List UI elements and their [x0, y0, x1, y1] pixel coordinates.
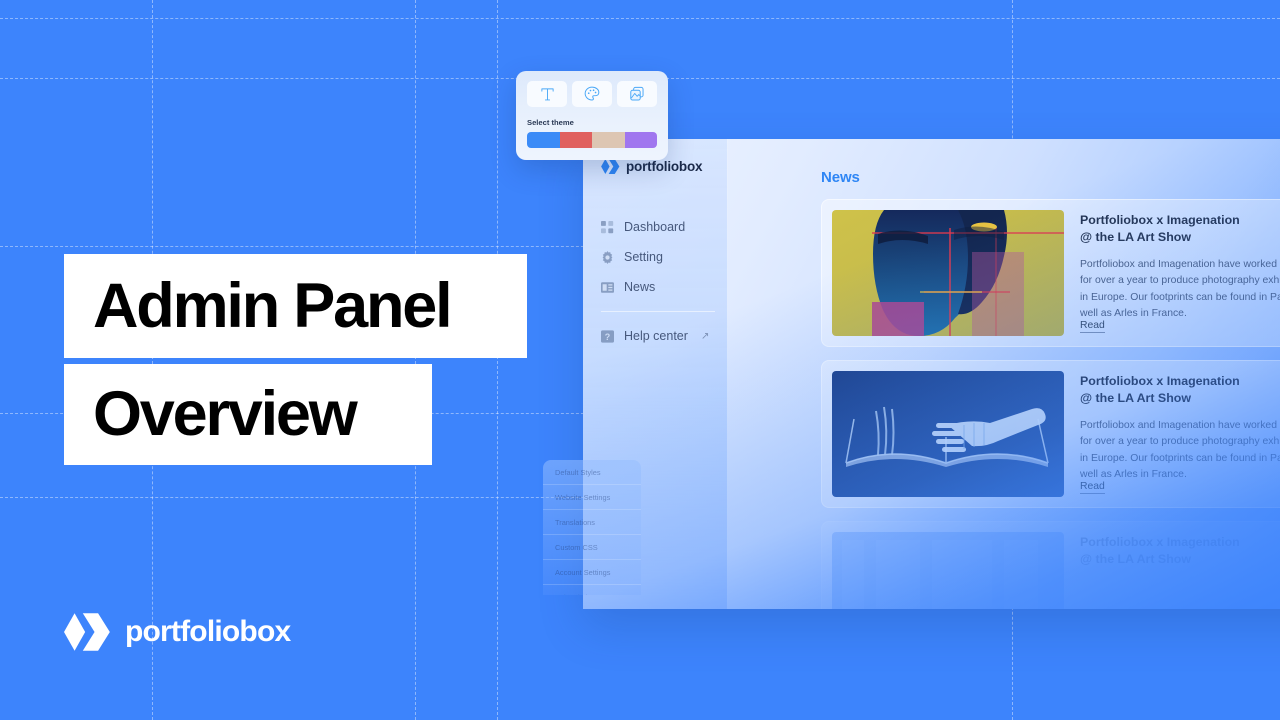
theme-popover: Select theme	[516, 71, 668, 160]
news-heading-line: Portfoliobox x Imagenation	[1080, 373, 1280, 390]
portfoliobox-logo-icon	[64, 612, 111, 652]
text-tool-icon	[540, 87, 555, 102]
read-link[interactable]: Read	[1080, 320, 1105, 333]
settings-menu-item[interactable]: Subscription	[543, 585, 641, 595]
news-thumbnail	[832, 210, 1064, 336]
theme-swatch-beige[interactable]	[592, 132, 625, 148]
dashboard-grid-icon	[601, 221, 614, 234]
grid-line-vertical	[497, 0, 498, 720]
media-tool-button[interactable]	[617, 81, 657, 107]
sidebar-item-news[interactable]: News	[601, 272, 727, 302]
help-question-icon: ?	[601, 330, 614, 343]
news-card-heading: Portfoliobox x Imagenation @ the LA Art …	[1080, 373, 1280, 407]
page-subtitle: Overview	[64, 364, 432, 465]
news-text-line: for over a year to produce photography e…	[1080, 273, 1280, 289]
settings-menu-item[interactable]: Custom CSS	[543, 535, 641, 560]
theme-swatch-purple[interactable]	[625, 132, 658, 148]
news-text-line: in Europe. Our footprints can be found i…	[1080, 290, 1280, 306]
news-card-text: Portfoliobox and Imagenation have worked…	[1080, 418, 1280, 484]
admin-panel-preview: portfoliobox Dashboard Setting	[583, 139, 1280, 609]
image-layers-icon	[629, 86, 645, 102]
news-heading-line: @ the LA Art Show	[1080, 229, 1280, 246]
faded-artwork-image	[832, 532, 1064, 609]
news-card[interactable]: Portfoliobox x Imagenation @ the LA Art …	[821, 360, 1280, 508]
sidebar-item-label: Help center	[624, 329, 688, 343]
sidebar-brand-label: portfoliobox	[626, 159, 702, 174]
news-text-line: well as Arles in France.	[1080, 467, 1280, 483]
settings-menu-item[interactable]: Account Settings	[543, 560, 641, 585]
sidebar-item-dashboard[interactable]: Dashboard	[601, 212, 727, 242]
grid-line-horizontal	[0, 18, 1280, 19]
tool-row	[527, 81, 657, 107]
settings-submenu: Default Styles Website Settings Translat…	[543, 460, 641, 595]
news-thumbnail	[832, 532, 1064, 609]
read-link[interactable]: Read	[1080, 481, 1105, 494]
palette-tool-button[interactable]	[572, 81, 612, 107]
sidebar-divider	[601, 311, 715, 312]
text-tool-button[interactable]	[527, 81, 567, 107]
news-text-line: for over a year to produce photography e…	[1080, 434, 1280, 450]
admin-main-content: News Create new	[728, 139, 1280, 609]
settings-menu-item[interactable]: Default Styles	[543, 460, 641, 485]
robot-hand-book-artwork-image	[832, 371, 1064, 497]
page-title: News	[821, 169, 860, 186]
news-heading-line: Portfoliobox x Imagenation	[1080, 212, 1280, 229]
gear-icon	[601, 251, 614, 264]
news-thumbnail	[832, 371, 1064, 497]
news-heading-line: @ the LA Art Show	[1080, 551, 1280, 568]
news-heading-line: @ the LA Art Show	[1080, 390, 1280, 407]
page-title: Admin Panel	[64, 254, 527, 358]
sidebar-item-label: Dashboard	[624, 220, 685, 234]
news-card[interactable]: Portfoliobox x Imagenation @ the LA Art …	[821, 199, 1280, 347]
portrait-artwork-image	[832, 210, 1064, 336]
news-card-heading: Portfoliobox x Imagenation @ the LA Art …	[1080, 212, 1280, 246]
news-card[interactable]: Portfoliobox x Imagenation @ the LA Art …	[821, 521, 1280, 609]
news-text-line: well as Arles in France.	[1080, 306, 1280, 322]
sidebar-item-label: News	[624, 280, 655, 294]
settings-menu-item[interactable]: Translations	[543, 510, 641, 535]
theme-swatches	[527, 132, 657, 148]
svg-text:?: ?	[605, 331, 610, 341]
news-text-line: Portfoliobox and Imagenation have worked…	[1080, 418, 1280, 434]
news-card-body: Portfoliobox x Imagenation @ the LA Art …	[1080, 210, 1280, 336]
select-theme-label: Select theme	[527, 118, 657, 127]
news-card-heading: Portfoliobox x Imagenation @ the LA Art …	[1080, 534, 1280, 568]
external-link-icon: ↗	[701, 331, 709, 342]
news-card-body: Portfoliobox x Imagenation @ the LA Art …	[1080, 532, 1280, 609]
grid-line-vertical	[415, 0, 416, 720]
footer-brand-label: portfoliobox	[125, 615, 290, 649]
news-text-line: in Europe. Our footprints can be found i…	[1080, 451, 1280, 467]
sidebar-nav: Dashboard Setting News	[583, 212, 727, 351]
news-heading-line: Portfoliobox x Imagenation	[1080, 534, 1280, 551]
sidebar-item-help-center[interactable]: ? Help center ↗	[601, 321, 727, 351]
sidebar-item-label: Setting	[624, 250, 663, 264]
theme-swatch-blue[interactable]	[527, 132, 560, 148]
news-card-text: Portfoliobox and Imagenation have worked…	[1080, 257, 1280, 323]
portfoliobox-logo-icon	[601, 159, 620, 174]
news-section-header: News Create new	[821, 169, 1280, 186]
sidebar-item-setting[interactable]: Setting	[601, 242, 727, 272]
news-article-icon	[601, 281, 614, 294]
news-card-body: Portfoliobox x Imagenation @ the LA Art …	[1080, 371, 1280, 497]
footer-brand: portfoliobox	[64, 612, 290, 652]
theme-swatch-red[interactable]	[560, 132, 593, 148]
palette-icon	[584, 86, 600, 102]
settings-menu-item[interactable]: Website Settings	[543, 485, 641, 510]
news-text-line: Portfoliobox and Imagenation have worked…	[1080, 257, 1280, 273]
